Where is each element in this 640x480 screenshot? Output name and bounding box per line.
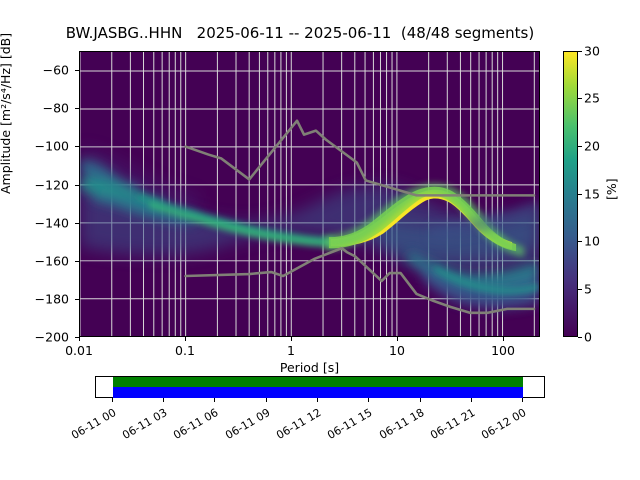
noise-model-curves [80,52,539,337]
timeline-tick [317,398,318,402]
colorbar-label: [%] [604,178,619,200]
timeline-tick-label: 06-11 03 [111,406,169,447]
y-tick [75,70,79,71]
x-tick [503,337,504,341]
x-tick [79,337,80,341]
y-tick [75,185,79,186]
ppsd-plot-area [79,51,540,337]
colorbar-tick [578,337,582,338]
timeline-tick-label: 06-11 18 [368,406,426,447]
colorbar-tick [578,241,582,242]
colorbar-tick [578,146,582,147]
y-tick-label: −80 [9,101,69,116]
colorbar-tick [578,194,582,195]
x-tick [185,337,186,341]
timeline-tick-label: 06-11 15 [316,406,374,447]
x-axis-label: Period [s] [79,360,540,375]
x-tick-label: 0.01 [49,343,109,358]
x-tick-label: 1 [261,343,321,358]
y-tick [75,261,79,262]
x-tick-label: 10 [367,343,427,358]
timeline-tick [420,398,421,402]
colorbar-tick-label: 30 [584,44,600,59]
colorbar-tick-label: 5 [584,282,592,297]
colorbar-tick [578,289,582,290]
timeline-tick-label: 06-11 00 [60,406,118,447]
timeline-data-bar [113,377,523,387]
timeline-tick [368,398,369,402]
colorbar-tick-label: 15 [584,187,600,202]
timeline-tick-label: 06-11 12 [265,406,323,447]
timeline-tick [214,398,215,402]
y-tick-label: −180 [9,292,69,307]
timeline-tick-label: 06-11 09 [214,406,272,447]
colorbar-tick-label: 0 [584,330,592,345]
x-tick [291,337,292,341]
timeline-tick [163,398,164,402]
colorbar-tick-label: 25 [584,91,600,106]
y-tick-label: −160 [9,254,69,269]
nlnm-curve [186,248,534,313]
y-tick-label: −60 [9,63,69,78]
y-tick [75,223,79,224]
page-title: BW.JASBG..HHN 2025-06-11 -- 2025-06-11 (… [0,24,600,42]
colorbar-gradient [563,51,578,337]
nhnm-curve [186,121,534,196]
y-tick [75,299,79,300]
y-tick-label: −140 [9,216,69,231]
y-tick-label: −120 [9,178,69,193]
x-tick-label: 100 [473,343,533,358]
x-tick-label: 0.1 [155,343,215,358]
ppsd-figure: BW.JASBG..HHN 2025-06-11 -- 2025-06-11 (… [0,0,640,480]
timeline-tick [112,398,113,402]
timeline-tick-label: 06-11 06 [162,406,220,447]
timeline-box [95,376,545,398]
y-tick [75,108,79,109]
colorbar-tick-label: 10 [584,234,600,249]
colorbar-tick [578,98,582,99]
timeline-tick [266,398,267,402]
timeline-psd-bar [113,387,523,398]
timeline-tick [522,398,523,402]
timeline-tick-label: 06-12 00 [470,406,528,447]
y-axis-label: Amplitude [m²/s⁴/Hz] [dB] [0,33,13,194]
y-tick-label: −100 [9,139,69,154]
y-tick [75,146,79,147]
timeline-tick [471,398,472,402]
timeline-tick-label: 06-11 21 [419,406,477,447]
colorbar-tick-label: 20 [584,139,600,154]
colorbar-tick [578,51,582,52]
x-tick [397,337,398,341]
